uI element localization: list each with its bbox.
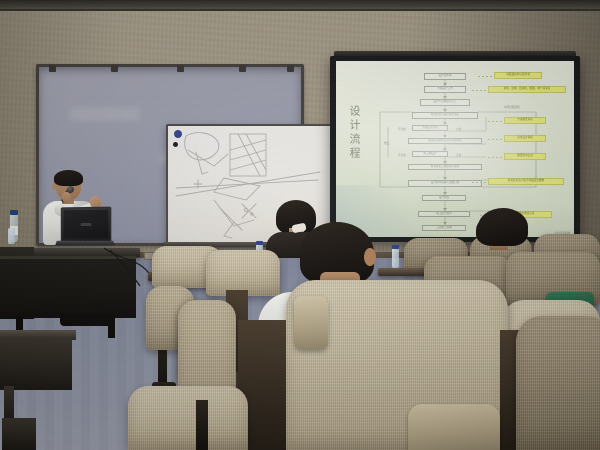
projection-screen: 设计流程 [336, 61, 574, 237]
laptop-screen [61, 207, 112, 243]
magnet-icon [173, 142, 178, 147]
front-table-body [0, 338, 72, 390]
armrest [408, 404, 500, 450]
board-clip-icon [287, 65, 294, 72]
laptop-logo [80, 223, 91, 226]
armrest [294, 296, 328, 350]
student-ear-icon [364, 248, 376, 266]
laptop-keyboard [55, 241, 115, 246]
seat [128, 386, 248, 450]
chalk-smudge [69, 107, 139, 121]
board-clip-icon [177, 65, 184, 72]
classroom-photo: 设计流程 [0, 0, 600, 450]
board-clip-icon [239, 65, 246, 72]
seat [516, 316, 600, 450]
student-hair [478, 208, 528, 246]
seat-leg [196, 400, 208, 450]
magnet-icon [174, 130, 182, 138]
lectern-leg [60, 314, 112, 326]
front-table-leg [2, 418, 36, 450]
board-clip-icon [49, 65, 56, 72]
presenter-hair [54, 170, 83, 186]
water-bottle-cap [10, 210, 18, 215]
water-bottle [392, 248, 399, 268]
water-bottle-cap [256, 241, 263, 245]
board-clip-icon [111, 65, 118, 72]
water-bottle [8, 228, 15, 244]
presenter-left-hand [62, 192, 71, 203]
water-bottle-cap [392, 245, 399, 249]
